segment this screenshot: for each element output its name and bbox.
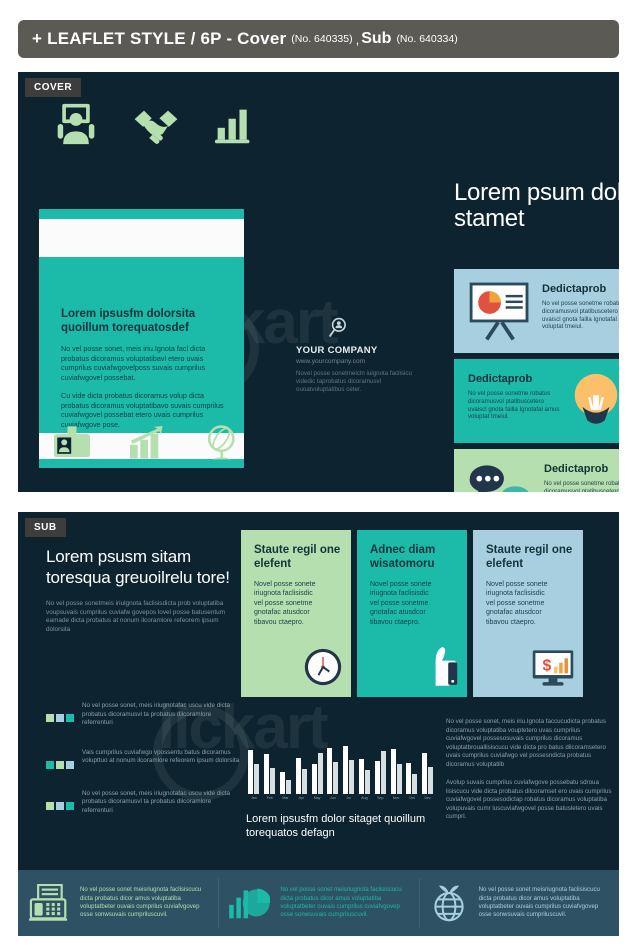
chart-x-label: Dec: [420, 796, 436, 800]
sub-column-2[interactable]: Adnec diam wisatomoru Novel posse sonete…: [357, 530, 467, 697]
bottom-cell-1-text: No vel posse sonet meisriugnota faclisis…: [80, 886, 208, 919]
cover-card-3-heading: Dedictaprob: [544, 463, 619, 476]
globe-leaf-icon: [429, 883, 469, 923]
chart-x-labels: JanFebMarAprMayJunJulAugSepNovOctDec: [246, 796, 436, 800]
chart-bar: [248, 750, 253, 794]
chart-x-label: Oct: [404, 796, 420, 800]
sub-tag: SUB: [25, 518, 66, 537]
globe-stand-icon: [204, 424, 242, 462]
chart-bar: [406, 763, 411, 794]
thumbs-up-icon: [423, 645, 459, 687]
cover-centre-body: Novel posse sonetmeicln iuignota faclisi…: [296, 370, 416, 395]
chart-bar: [349, 760, 354, 794]
bottom-cell-1[interactable]: No vel posse sonet meisriugnota faclisis…: [18, 870, 218, 936]
sub-heading-block: Lorem psusm sitam toresqua greuoilrelu t…: [46, 546, 241, 634]
chart-x-label: Aug: [357, 796, 373, 800]
user-presentation-icon: [54, 102, 98, 146]
chart-x-label: Feb: [262, 796, 278, 800]
chart-bar: [428, 767, 433, 794]
chart-bar: [264, 754, 269, 794]
chart-bar: [280, 772, 285, 794]
bottom-cell-2-text: No vel posse sonet meisriugnota faclisis…: [280, 886, 408, 919]
chart-bar: [365, 770, 370, 794]
chart-bar-pair: [293, 758, 309, 794]
chart-x-label: May: [309, 796, 325, 800]
sub-column-3-body: Novel posse sonete iriugnota faclisisdic…: [486, 580, 548, 627]
bullet-swatches: [46, 790, 74, 816]
chart-bar: [333, 762, 338, 794]
chart-bar: [381, 751, 386, 794]
speech-bubbles-icon: [466, 459, 540, 492]
cover-left-text-block: Lorem ipsusfm dolorsita quoillum torequa…: [39, 281, 244, 433]
svg-text:$: $: [542, 658, 551, 675]
list-item: No vel posse sonet, meis iriugnotafac us…: [46, 790, 241, 816]
chart-bar: [391, 749, 396, 794]
chart-x-label: Jul: [341, 796, 357, 800]
cover-card-1-body: No vel posse sonetme robatus dicoramusvo…: [542, 300, 619, 331]
chart-bar-pair: [404, 763, 420, 794]
cover-card-2-body: No vel posse sonetme robatus dicoramusvo…: [468, 390, 563, 421]
chart-bar: [318, 753, 323, 794]
bar-chart-icon: [214, 106, 254, 146]
swatch: [56, 802, 64, 810]
sub-heading-body: No vel posse sonetmeis iriulgnota faclis…: [46, 600, 241, 634]
cover-card-2-heading: Dedictaprob: [468, 373, 563, 386]
chart-bar: [302, 769, 307, 794]
sub-column-1-heading: Staute regil one elefent: [254, 544, 341, 571]
chart-bar: [327, 748, 332, 794]
cover-stripe-teal-mid: [39, 257, 244, 281]
chart-bar-pair: [246, 750, 262, 794]
sub-bar-chart: JanFebMarAprMayJunJulAugSepNovOctDec Lor…: [246, 742, 436, 840]
chart-x-label: Apr: [293, 796, 309, 800]
bullet-text: Vais cumprilus cuviafwgo vpossentu batus…: [82, 749, 241, 769]
cover-tag: COVER: [25, 78, 81, 97]
chart-x-label: Jun: [325, 796, 341, 800]
chart-bar: [270, 768, 275, 794]
chart-x-label: Sep: [372, 796, 388, 800]
growth-chart-icon: [128, 426, 168, 462]
cover-left-para-1: No vel posse sonet, meis iriu.Ignota fac…: [61, 344, 228, 382]
sub-column-1-body: Novel posse sonete iriugnota faclisisdic…: [254, 580, 316, 627]
page-title: LEAFLET STYLE / 6P - Cover: [42, 29, 286, 49]
chart-bar: [286, 780, 291, 794]
chart-bar: [412, 774, 417, 794]
chart-bar-pair: [357, 759, 373, 794]
chart-bar: [422, 753, 427, 794]
swatch: [46, 714, 54, 722]
chart-x-label: Jan: [246, 796, 262, 800]
chart-bar: [254, 764, 259, 794]
sub-column-2-heading: Adnec diam wisatomoru: [370, 544, 457, 571]
monitor-dollar-chart-icon: $: [531, 649, 575, 687]
bottom-feature-strip: No vel posse sonet meisriugnota faclisis…: [18, 870, 619, 936]
clock-icon: [303, 647, 343, 687]
cover-panel: lickart COVER Lorem ips: [18, 72, 619, 492]
chart-bar-pair: [278, 772, 294, 794]
sub-bullet-list: No vel posse sonet, meis iriugnotafac us…: [46, 702, 241, 837]
sub-right-para-1: No vel posse sonet, meis iriu.Ignota fac…: [446, 718, 612, 769]
chart-bar: [397, 764, 402, 794]
chart-bar-pair: [372, 751, 388, 794]
cover-left-title: Lorem ipsusfm dolorsita quoillum torequa…: [61, 307, 228, 335]
chart-bar: [312, 764, 317, 794]
cover-main-heading: Lorem psum dolor stamet: [454, 180, 619, 232]
swatch: [46, 802, 54, 810]
chart-bar: [343, 746, 348, 794]
chart-bar: [359, 759, 364, 794]
chart-x-label: Nov: [388, 796, 404, 800]
chart-bar-pair: [420, 753, 436, 794]
bottom-cell-2[interactable]: No vel posse sonet meisriugnota faclisis…: [218, 870, 418, 936]
title-separator: ,: [354, 32, 362, 47]
sub-title: Sub: [361, 30, 391, 48]
cover-card-1[interactable]: Dedictaprob No vel posse sonetme robatus…: [454, 269, 619, 353]
list-item: No vel posse sonet, meis iriugnotafac us…: [46, 702, 241, 728]
cover-card-2-text: Dedictaprob No vel posse sonetme robatus…: [468, 373, 563, 421]
sub-right-para-2: Avolup suvais cumprilus cuviafwgove poss…: [446, 779, 612, 822]
cover-card-2[interactable]: Dedictaprob No vel posse sonetme robatus…: [454, 359, 619, 443]
sub-column-3-heading: Staute regil one elefent: [486, 544, 573, 571]
lightbulb-icon: [568, 370, 619, 432]
sub-number: (No. 640334): [391, 33, 458, 45]
chart-bar-pair: [341, 746, 357, 794]
bullet-swatches: [46, 702, 74, 728]
chart-bar: [375, 761, 380, 794]
swatch: [66, 802, 74, 810]
presentation-pie-chart-icon: [464, 280, 536, 342]
pie-bar-chart-icon: [228, 885, 270, 921]
handshake-icon: [132, 106, 180, 146]
cover-number: (No. 640335): [286, 33, 353, 45]
cover-card-1-text: Dedictaprob No vel posse sonetme robatus…: [542, 283, 619, 331]
bullet-text: No vel posse sonet, meis iriugnotafac us…: [82, 702, 241, 728]
chart-bar-pair: [325, 748, 341, 794]
chart-bar-pair: [388, 749, 404, 794]
sub-heading: Lorem psusm sitam toresqua greuoilrelu t…: [46, 546, 241, 588]
sub-column-3[interactable]: Staute regil one elefent Novel posse son…: [473, 530, 583, 697]
id-badge-icon: [52, 426, 92, 462]
swatch: [56, 714, 64, 722]
sub-right-text: No vel posse sonet, meis iriu.Ignota fac…: [446, 718, 612, 832]
chart-caption: Lorem ipsusfm dolor sitaget quoillum tor…: [246, 813, 436, 840]
sub-column-1[interactable]: Staute regil one elefent Novel posse son…: [241, 530, 351, 697]
cover-centre-company: YOUR COMPANY: [296, 345, 416, 356]
list-item: Vais cumprilus cuviafwgo vpossentu batus…: [46, 749, 241, 769]
bullet-text: No vel posse sonet, meis iriugnotafac us…: [82, 790, 241, 816]
swatch: [66, 714, 74, 722]
swatch: [46, 761, 54, 769]
swatch: [66, 761, 74, 769]
cover-card-3-body: No vel posse sonetme robatus dicoramusvo…: [544, 480, 619, 492]
cover-card-3[interactable]: Dedictaprob No vel posse sonetme robatus…: [454, 449, 619, 492]
sub-column-2-body: Novel posse sonete iriugnota faclisisdic…: [370, 580, 432, 627]
bottom-cell-3-text: No vel posse sonet meisriugnota faclisis…: [479, 886, 609, 919]
bottom-cell-3[interactable]: No vel posse sonet meisriugnota faclisis…: [419, 870, 619, 936]
cover-bottom-icon-row: [52, 424, 242, 462]
page-title-bar: + LEAFLET STYLE / 6P - Cover (No. 640335…: [18, 20, 619, 58]
cover-centre-block: YOUR COMPANY www.yourcompany.com Novel p…: [296, 317, 416, 395]
cover-card-3-text: Dedictaprob No vel posse sonetme robatus…: [544, 463, 619, 492]
title-plus: +: [32, 29, 42, 49]
fax-machine-icon: [28, 884, 70, 922]
cover-card-1-heading: Dedictaprob: [542, 283, 619, 296]
cover-stripe-teal-top: [39, 209, 244, 219]
chart-bar: [296, 758, 301, 794]
swatch: [56, 761, 64, 769]
cover-left-body: No vel posse sonet, meis iriu.Ignota fac…: [61, 344, 228, 429]
cover-top-icon-row: [54, 102, 254, 146]
search-person-icon: [328, 317, 348, 341]
cover-stripe-white-top: [39, 219, 244, 257]
chart-x-label: Mar: [278, 796, 294, 800]
chart-bars: [246, 742, 436, 794]
cover-centre-url: www.yourcompany.com: [296, 358, 416, 365]
chart-bar-pair: [309, 753, 325, 794]
chart-bar-pair: [262, 754, 278, 794]
bullet-swatches: [46, 749, 74, 769]
